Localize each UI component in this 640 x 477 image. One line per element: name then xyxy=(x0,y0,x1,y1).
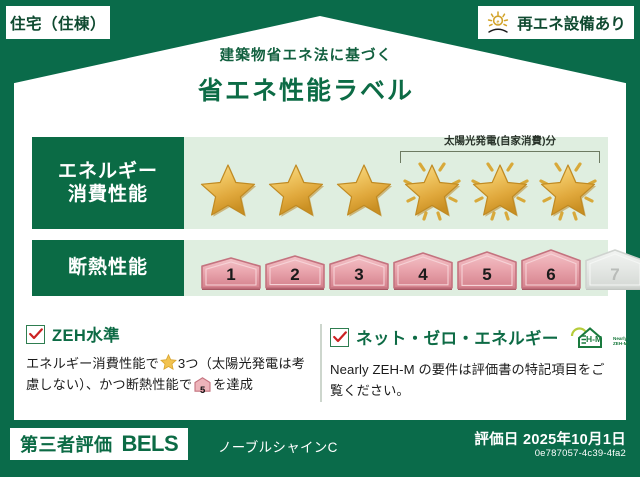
insulation-grade-badge: 7 xyxy=(584,242,640,290)
insulation-grade-badge: 1 xyxy=(200,250,262,290)
insulation-grade-badge: 3 xyxy=(328,247,390,290)
evaluation-id: 0e787057-4c39-4fa2 xyxy=(535,448,626,459)
building-name: ノーブルシャインC xyxy=(218,436,338,456)
zeh-m-logo-caption-line2: ZEH-M xyxy=(613,341,628,346)
net-zero-panel-header: ネット・ゼロ・エネルギー H-M Nearly ZEH-M xyxy=(330,322,612,352)
insulation-grade-number: 5 xyxy=(456,265,518,285)
check-icon xyxy=(333,331,347,343)
third-party-label: 第三者評価 xyxy=(20,431,113,457)
energy-label-line2: 消費性能 xyxy=(68,183,148,206)
star-solar xyxy=(398,157,466,223)
insulation-grade-badge: 5 xyxy=(456,244,518,290)
title-block: 建築物省エネ法に基づく 省エネ性能ラベル xyxy=(0,44,612,107)
inline-house-badge: 5 xyxy=(194,377,211,398)
star-solar xyxy=(534,157,602,223)
building-type-badge: 住宅（住棟） xyxy=(6,6,110,39)
energy-label-root: 住宅（住棟） e 再エネ設備あり 建築物省エネ法に基づく 省エネ性能ラベル エネ xyxy=(0,0,640,477)
star-solar xyxy=(466,157,534,223)
insulation-grade-number: 7 xyxy=(584,265,640,285)
insulation-grade-badge: 2 xyxy=(264,248,326,290)
solar-portion-label: 太陽光発電(自家消費)分 xyxy=(384,133,616,148)
insulation-performance-row: 断熱性能 1234567 xyxy=(32,240,608,296)
bels-evaluation-box: 第三者評価 BELS xyxy=(10,428,188,460)
svg-text:e: e xyxy=(497,19,500,25)
insulation-grade-number: 2 xyxy=(264,265,326,285)
building-type-label: 住宅（住棟） xyxy=(10,12,106,34)
zeh-panel-body: エネルギー消費性能で3つ（太陽光発電は考慮しない）、かつ断熱性能で5を達成 xyxy=(26,353,316,399)
energy-performance-row: エネルギー 消費性能 太陽光発電(自家消費)分 xyxy=(32,137,608,229)
zeh-m-logo-icon: H-M Nearly ZEH-M xyxy=(566,322,628,352)
star-filled xyxy=(330,157,398,223)
insulation-grade-number: 1 xyxy=(200,265,262,285)
renewable-equipment-label: 再エネ設備あり xyxy=(517,12,626,34)
evaluation-date: 評価日 2025年10月1日 xyxy=(474,428,626,449)
net-zero-check-box xyxy=(330,328,349,347)
renewable-equipment-badge: e 再エネ設備あり xyxy=(478,6,634,39)
inline-house-number: 5 xyxy=(194,383,211,398)
insulation-grade-strip: 1234567 xyxy=(184,240,640,296)
label-title: 省エネ性能ラベル xyxy=(0,71,612,107)
star-filled xyxy=(194,157,262,223)
zeh-panel-title: ZEH水準 xyxy=(52,322,120,346)
net-zero-panel-title: ネット・ゼロ・エネルギー xyxy=(356,325,559,349)
panel-divider xyxy=(320,324,322,402)
zeh-panel-header: ZEH水準 xyxy=(26,322,316,346)
inline-star-icon xyxy=(160,354,177,370)
net-zero-energy-panel: ネット・ゼロ・エネルギー H-M Nearly ZEH-M Nearly ZEH… xyxy=(330,322,612,402)
insulation-grade-badge: 6 xyxy=(520,242,582,290)
energy-label-line1: エネルギー xyxy=(58,160,158,183)
zeh-m-logo-text: H-M xyxy=(586,334,602,344)
insulation-grade-number: 3 xyxy=(328,265,390,285)
label-subtitle: 建築物省エネ法に基づく xyxy=(0,44,612,65)
check-icon xyxy=(29,328,43,340)
solar-portion-bracket xyxy=(400,151,600,163)
zeh-body-part3: を達成 xyxy=(213,377,253,392)
footer-bar: 第三者評価 BELS ノーブルシャインC 評価日 2025年10月1日 0e78… xyxy=(0,420,640,477)
zeh-check-box xyxy=(26,325,45,344)
insulation-grade-badge: 4 xyxy=(392,245,454,290)
star-filled xyxy=(262,157,330,223)
insulation-grade-number: 4 xyxy=(392,265,454,285)
zeh-body-part1: エネルギー消費性能で xyxy=(26,356,159,371)
energy-star-area: 太陽光発電(自家消費)分 xyxy=(184,137,608,229)
insulation-grade-number: 6 xyxy=(520,265,582,285)
net-zero-panel-body: Nearly ZEH-M の要件は評価書の特記項目をご覧ください。 xyxy=(330,359,612,402)
insulation-label-text: 断熱性能 xyxy=(68,256,148,279)
insulation-grade-area: 1234567 xyxy=(184,240,640,296)
bels-mark: BELS xyxy=(122,431,179,457)
zeh-standard-panel: ZEH水準 エネルギー消費性能で3つ（太陽光発電は考慮しない）、かつ断熱性能で5… xyxy=(26,322,316,399)
insulation-performance-label: 断熱性能 xyxy=(32,240,184,296)
energy-performance-label: エネルギー 消費性能 xyxy=(32,137,184,229)
sun-icon: e xyxy=(486,11,512,35)
